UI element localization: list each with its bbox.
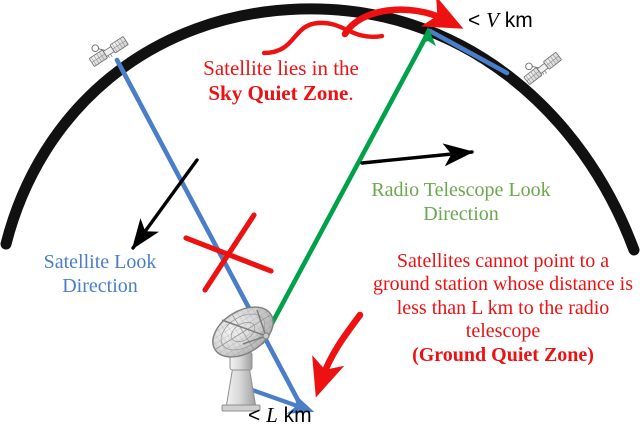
ground-quiet-zone-curved-arrow	[322, 315, 360, 379]
satellite-look-direction-label: Satellite Look Direction	[10, 250, 190, 298]
v-distance-operator: <	[468, 9, 480, 32]
gqz-line3: station whose	[435, 273, 544, 295]
sky-quiet-zone-bold-a: Sky Quiet	[208, 81, 297, 105]
diagram-canvas: Satellite lies in the Sky Quiet Zone. < …	[0, 0, 640, 441]
satellite-look-line-right	[430, 31, 507, 73]
v-distance-unit: km	[499, 9, 533, 32]
red-curly-brace	[264, 23, 382, 53]
l-distance-label: < L km	[248, 404, 312, 427]
v-distance-symbol: V	[486, 8, 499, 32]
sat-look-line1: Satellite Look	[44, 251, 157, 273]
sky-quiet-zone-line1: Satellite lies in	[203, 56, 328, 80]
gqz-line7: (Ground Quiet Zone)	[372, 344, 634, 367]
rt-look-line1: Radio Telescope	[371, 179, 503, 201]
satellite-label-pointer-arrow	[133, 160, 197, 248]
l-distance-operator: <	[248, 404, 260, 427]
telescope-label-pointer-arrow	[362, 152, 472, 163]
gqz-line1: Satellites cannot	[397, 250, 529, 272]
sky-quiet-zone-period: .	[348, 81, 353, 105]
l-distance-symbol: L	[266, 403, 278, 427]
red-x-cross	[186, 215, 271, 290]
gqz-line5: than L km to the	[432, 297, 563, 319]
satellite-icon-right	[519, 45, 563, 86]
l-distance-unit: km	[278, 404, 312, 427]
ground-quiet-zone-annotation: Satellites cannot point to a ground stat…	[372, 250, 634, 367]
radio-telescope-look-direction-label: Radio Telescope Look Direction	[358, 178, 564, 226]
sky-quiet-zone-bold-b: Zone	[303, 81, 349, 105]
v-distance-label: < V km	[468, 9, 533, 32]
radio-telescope-dish-icon	[204, 297, 282, 411]
sat-look-line2: Direction	[62, 275, 138, 297]
sky-quiet-zone-annotation: Satellite lies in the Sky Quiet Zone.	[184, 56, 378, 106]
sky-quiet-zone-line2-prefix: the	[333, 56, 359, 80]
